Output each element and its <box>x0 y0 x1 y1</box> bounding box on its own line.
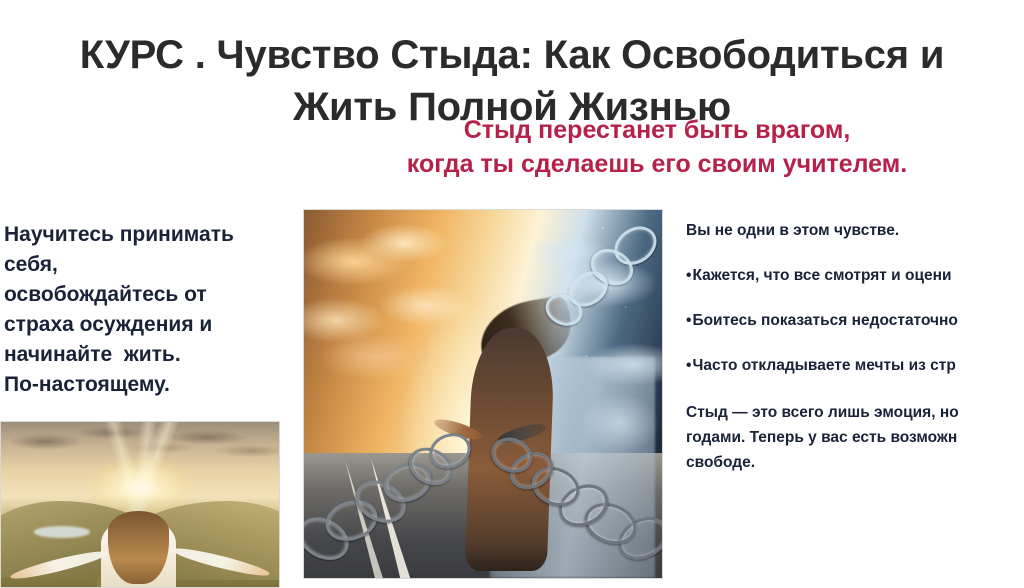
right-text-block: Вы не одни в этом чувстве. Кажется, что … <box>686 220 1024 475</box>
hero-image-breaking-chains <box>303 209 663 579</box>
list-item: Часто откладываете мечты из стр <box>686 355 1024 377</box>
subtitle: Стыд перестанет быть врагом, когда ты сд… <box>290 113 1024 181</box>
sunrise-figure-hair <box>108 511 169 584</box>
subtitle-line-1: Стыд перестанет быть врагом, <box>290 113 1024 147</box>
right-closing-line: Стыд — это всего лишь эмоция, но <box>686 400 1024 425</box>
left-text-line: начинайте жить. <box>4 340 292 370</box>
left-text-line: себя, <box>4 250 292 280</box>
left-text-line: освобождайтесь от <box>4 280 292 310</box>
left-text-line: страха осуждения и <box>4 310 292 340</box>
right-closing-line: свободе. <box>686 450 1024 475</box>
right-closing-paragraph: Стыд — это всего лишь эмоция, но годами.… <box>686 400 1024 475</box>
left-text-line: Научитесь принимать <box>4 220 292 250</box>
subtitle-line-2: когда ты сделаешь его своим учителем. <box>290 147 1024 181</box>
sunrise-image-open-arms <box>0 421 280 588</box>
left-text-line: По-настоящему. <box>4 370 292 400</box>
list-item: Кажется, что все смотрят и оцени <box>686 265 1024 287</box>
sunrise-lake <box>34 526 90 538</box>
right-closing-line: годами. Теперь у вас есть возможн <box>686 425 1024 450</box>
left-text-block: Научитесь принимать себя, освобождайтесь… <box>4 220 292 400</box>
list-item: Боитесь показаться недостаточно <box>686 310 1024 332</box>
right-lead-text: Вы не одни в этом чувстве. <box>686 220 1024 242</box>
